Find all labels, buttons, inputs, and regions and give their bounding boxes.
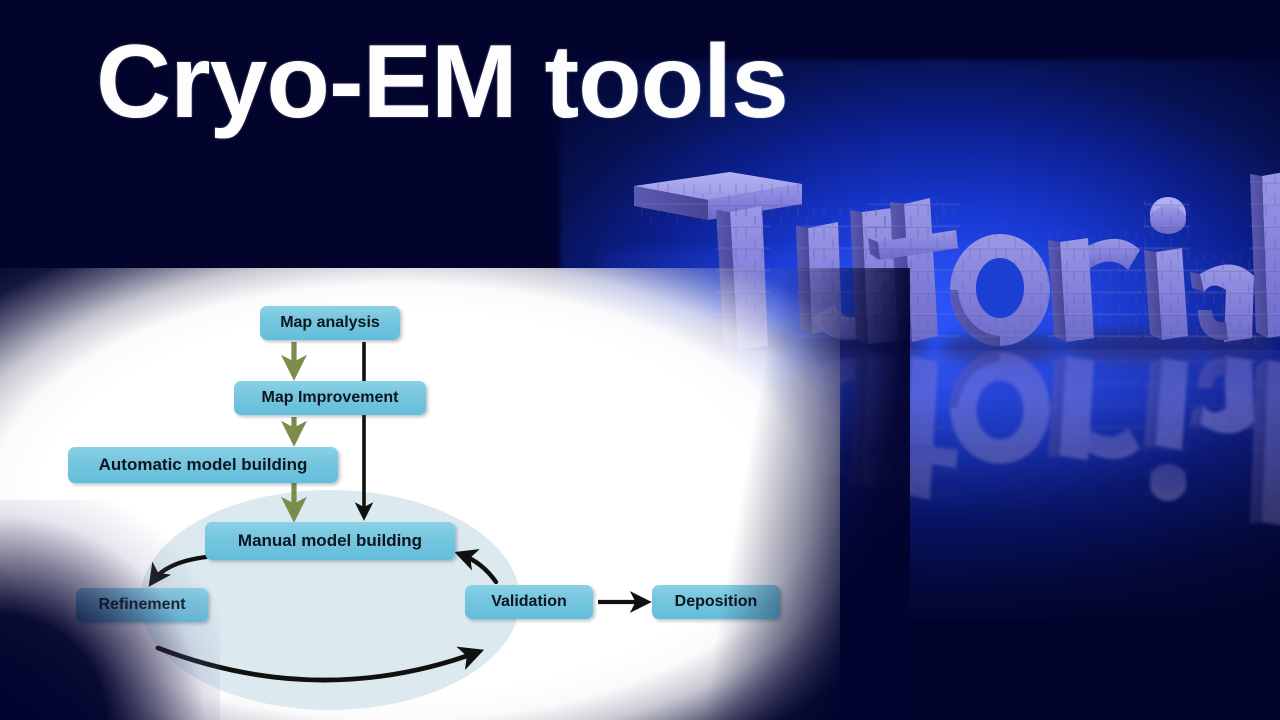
- node-automatic-model-building-label: Automatic model building: [99, 455, 308, 475]
- cryoem-workflow-diagram: [0, 270, 840, 720]
- page-title: Cryo-EM tools: [96, 30, 788, 134]
- node-refinement-label: Refinement: [98, 596, 185, 614]
- node-validation[interactable]: Validation: [465, 585, 593, 619]
- node-automatic-model-building[interactable]: Automatic model building: [68, 447, 338, 483]
- node-map-improvement[interactable]: Map Improvement: [234, 381, 426, 415]
- node-deposition[interactable]: Deposition: [652, 585, 780, 619]
- node-manual-model-building[interactable]: Manual model building: [205, 522, 455, 560]
- node-deposition-label: Deposition: [675, 593, 758, 611]
- node-map-improvement-label: Map Improvement: [262, 389, 399, 407]
- node-map-analysis-label: Map analysis: [280, 314, 380, 332]
- node-validation-label: Validation: [491, 593, 567, 611]
- slide-canvas: Cryo-EM tools: [0, 0, 1280, 720]
- node-refinement[interactable]: Refinement: [76, 588, 208, 622]
- node-map-analysis[interactable]: Map analysis: [260, 306, 400, 340]
- node-manual-model-building-label: Manual model building: [238, 531, 422, 551]
